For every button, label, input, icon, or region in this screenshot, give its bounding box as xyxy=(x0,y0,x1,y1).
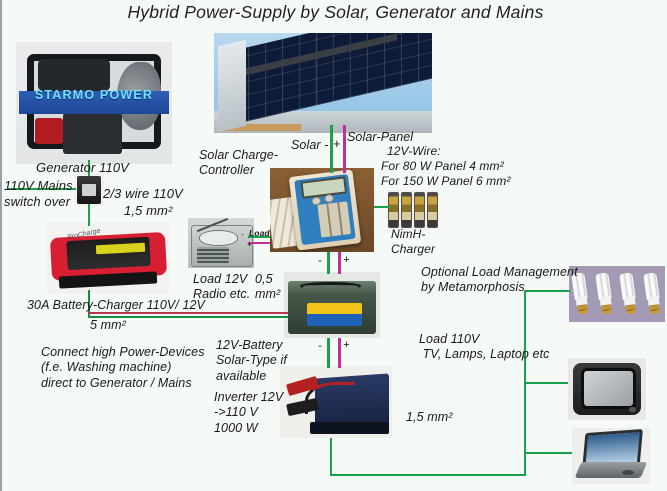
polarity-plus-controller: + xyxy=(343,254,349,266)
label-wire-05mm: 0,5 mm² xyxy=(255,272,280,303)
label-solar-charge-controller: Solar Charge- Controller xyxy=(199,148,278,179)
wire-controller-to-nimh xyxy=(374,206,390,208)
label-solar-minus: Solar - xyxy=(291,138,329,153)
polarity-minus-battery: - xyxy=(318,340,322,352)
wire-controller-negative xyxy=(327,252,330,274)
label-solar-panel: Solar-Panel xyxy=(347,130,413,145)
label-wire-23: 2/3 wire 110V xyxy=(103,186,183,202)
label-solar-plus: + xyxy=(333,137,340,152)
label-wire-5mm: 5 mm² xyxy=(90,318,126,333)
label-battery-charger: 30A Battery-Charger 110V/ 12V xyxy=(27,298,205,313)
battery-photo xyxy=(284,272,380,338)
wire-battery-positive xyxy=(338,338,341,368)
nimh-charger-photo xyxy=(387,190,439,230)
label-generator: Generator 110V xyxy=(36,160,129,176)
polarity-plus-load: + xyxy=(247,240,252,249)
generator-brand-label: STARMO POWER xyxy=(22,88,166,102)
page-title: Hybrid Power-Supply by Solar, Generator … xyxy=(2,2,667,23)
polarity-minus-controller: - xyxy=(318,255,322,267)
polarity-plus-battery: + xyxy=(343,339,349,351)
label-battery-12v: 12V-Battery Solar-Type if available xyxy=(216,338,287,384)
lamps-photo xyxy=(569,266,665,322)
label-wire-12v-head: 12V-Wire: xyxy=(387,144,441,159)
label-wire-15mm-left: 1,5 mm² xyxy=(124,203,172,219)
wire-ac-to-laptop xyxy=(524,452,572,454)
battery-charger-photo: ProCharge xyxy=(47,222,169,294)
charge-controller-photo xyxy=(270,168,374,252)
wire-inverter-ac-down xyxy=(330,438,332,476)
wire-dc-bus-green xyxy=(246,316,288,318)
laptop-photo xyxy=(572,428,650,484)
solar-panel-photo xyxy=(214,33,432,133)
generator-photo: STARMO POWER xyxy=(16,42,172,164)
polarity-minus-load: - xyxy=(241,230,244,239)
label-mains-switch: 110V Mains switch over xyxy=(4,178,73,210)
wire-ac-to-tv xyxy=(524,382,568,384)
radio-photo xyxy=(188,218,254,268)
wire-panel-positive xyxy=(343,125,346,173)
label-wire-80w: For 80 W Panel 4 mm² xyxy=(381,159,504,174)
inverter-photo xyxy=(280,366,392,438)
wire-battery-negative xyxy=(327,338,330,368)
diagram-canvas: Hybrid Power-Supply by Solar, Generator … xyxy=(0,0,667,491)
wire-ac-bus-bottom xyxy=(330,474,526,476)
label-high-power-note: Connect high Power-Devices (f.e. Washing… xyxy=(41,345,205,391)
label-load-12v: Load 12V Radio etc. xyxy=(193,272,250,303)
tv-photo xyxy=(568,358,646,420)
label-load-110v: Load 110V TV, Lamps, Laptop etc xyxy=(419,332,550,363)
label-load-tag: Load xyxy=(249,228,270,238)
wire-controller-positive xyxy=(338,252,341,274)
label-load-management: Optional Load Management by Metamorphosi… xyxy=(421,265,578,296)
mains-switch-photo xyxy=(74,174,104,206)
wire-switch-to-charger xyxy=(88,204,90,226)
label-inverter: Inverter 12V ->110 V 1000 W xyxy=(214,390,283,436)
label-wire-15mm-right: 1,5 mm² xyxy=(406,410,453,425)
label-wire-150w: For 150 W Panel 6 mm² xyxy=(381,174,510,189)
label-nimh-charger: NimH- Charger xyxy=(391,227,435,256)
